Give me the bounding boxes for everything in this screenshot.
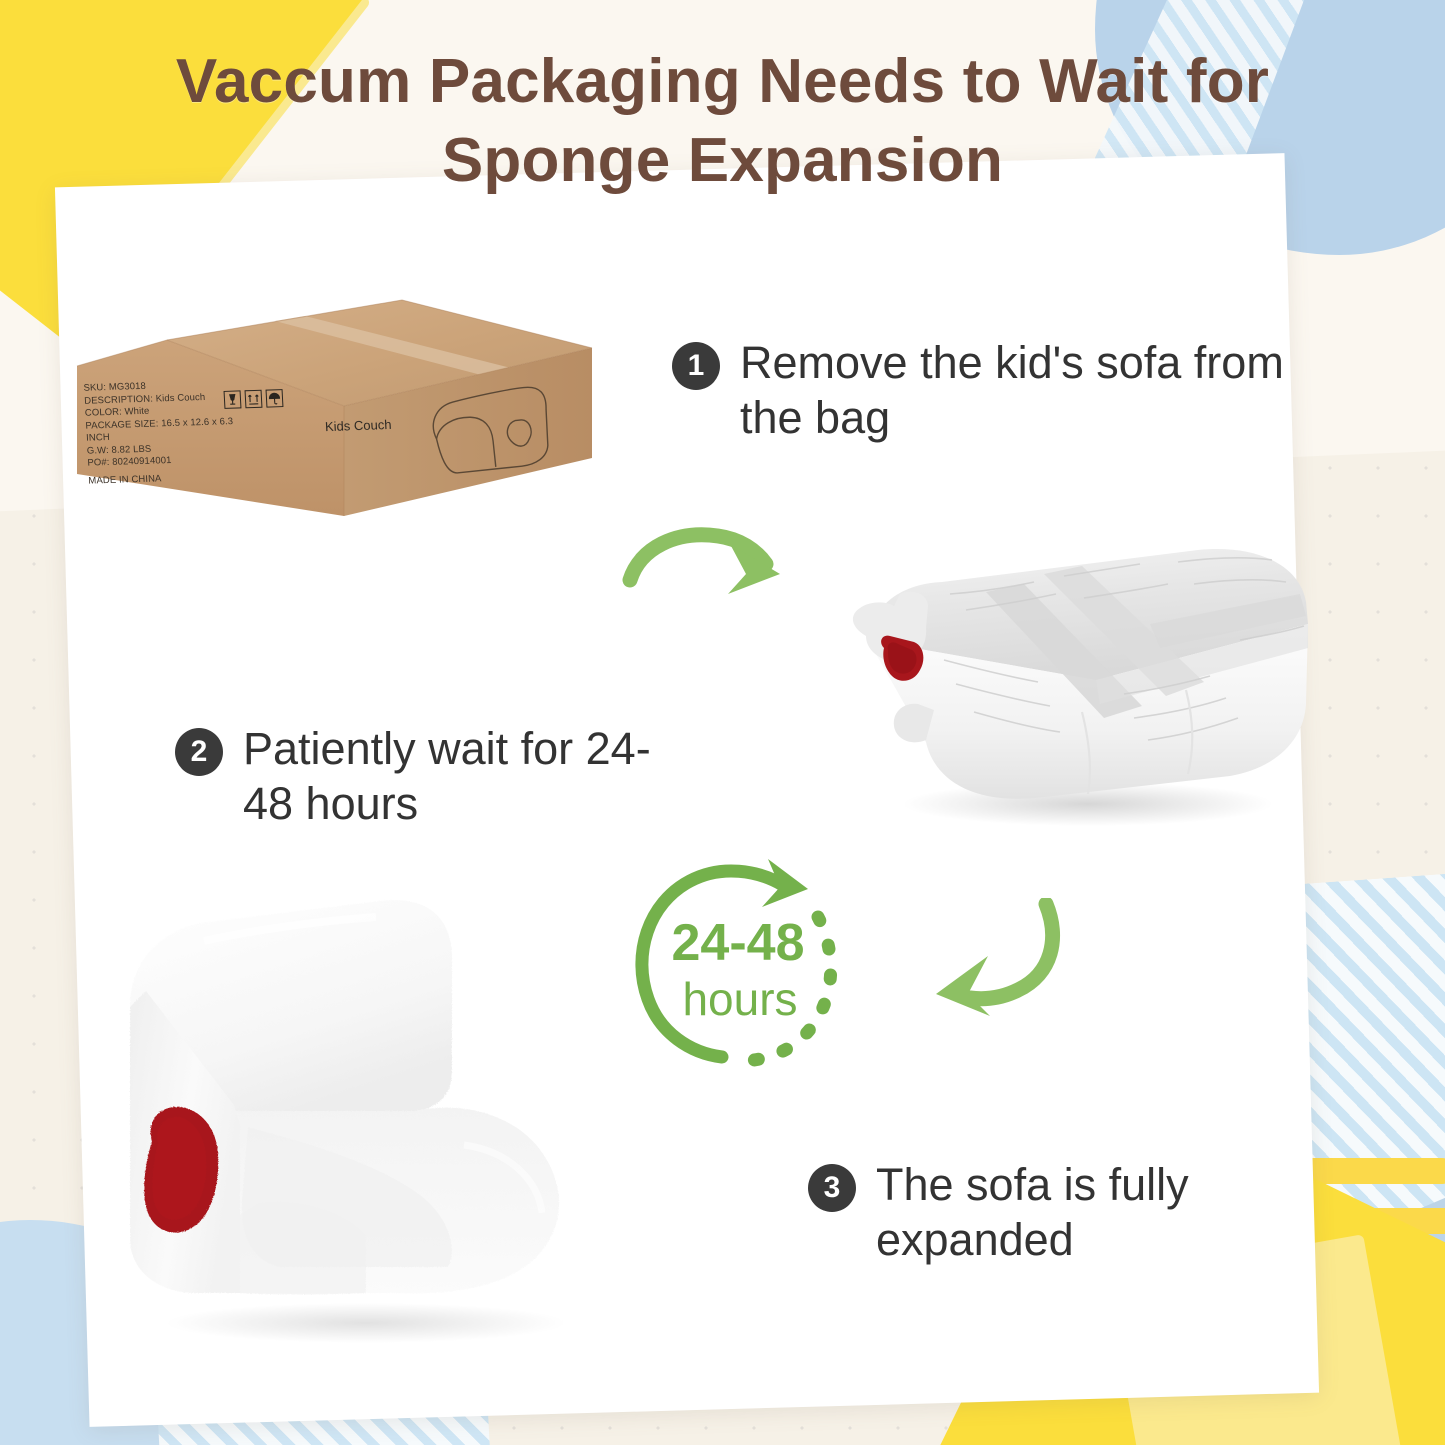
bundle-illustration (838, 532, 1328, 832)
shipping-carton-image: SKU: MG3018 DESCRIPTION: Kids Couch COLO… (72, 278, 597, 523)
fragile-icon (224, 390, 242, 409)
step-1-text: Remove the kid's sofa from the bag (740, 336, 1300, 446)
title-line-2: Sponge Expansion (0, 121, 1445, 200)
carton-side-text: Kids Couch (325, 417, 392, 434)
step-3-badge: 3 (808, 1164, 856, 1212)
sofa-illustration (108, 895, 618, 1355)
keep-dry-icon (266, 389, 284, 408)
shipping-handling-icons (224, 389, 284, 409)
wait-timer-graphic: 24-48 hours (618, 855, 868, 1085)
step-3: 3 The sofa is fully expanded (808, 1158, 1306, 1268)
arrow-curved-right-icon (622, 512, 807, 622)
flow-arrow-step3-icon (906, 898, 1076, 1023)
step-2: 2 Patiently wait for 24-48 hours (175, 722, 673, 832)
expanded-kids-sofa-image (108, 895, 618, 1355)
step-1-badge: 1 (672, 342, 720, 390)
arrow-curved-left-icon (906, 898, 1076, 1023)
step-1: 1 Remove the kid's sofa from the bag (672, 336, 1300, 446)
circular-timer-icon (618, 855, 868, 1085)
step-2-badge: 2 (175, 728, 223, 776)
step-2-text: Patiently wait for 24-48 hours (243, 722, 673, 832)
page-title: Vaccum Packaging Needs to Wait for Spong… (0, 42, 1445, 201)
step-3-text: The sofa is fully expanded (876, 1158, 1306, 1268)
flow-arrow-step1-icon (622, 512, 807, 622)
infographic-canvas: Vaccum Packaging Needs to Wait for Spong… (0, 0, 1445, 1445)
this-side-up-icon (245, 390, 263, 409)
title-line-1: Vaccum Packaging Needs to Wait for (0, 42, 1445, 121)
vacuum-packed-bundle-image (838, 532, 1328, 832)
